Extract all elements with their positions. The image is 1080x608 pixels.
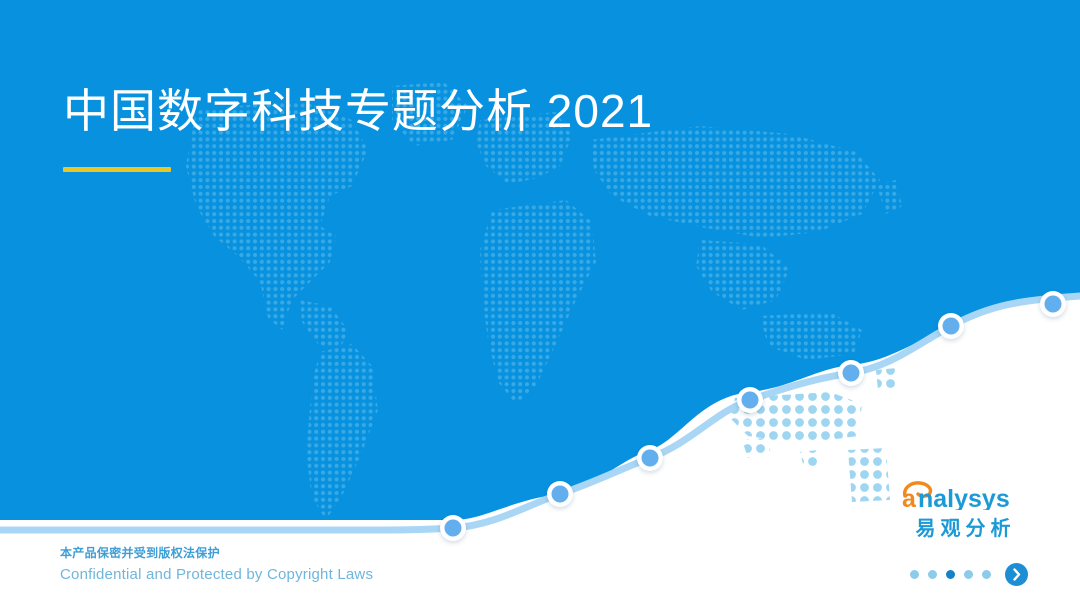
pagination-dot-2[interactable] xyxy=(928,570,937,579)
svg-text:nalysys: nalysys xyxy=(918,485,1010,510)
title-accent-rule xyxy=(63,167,171,172)
chart-marker xyxy=(547,481,573,507)
chart-marker xyxy=(637,445,663,471)
copyright-cn: 本产品保密并受到版权法保护 xyxy=(60,544,373,563)
analysys-wordmark-icon: a nalysys xyxy=(897,480,1029,510)
page-title: 中国数字科技专题分析 2021 xyxy=(63,84,653,139)
svg-text:a: a xyxy=(902,485,917,510)
pagination-dot-5[interactable] xyxy=(982,570,991,579)
chart-marker xyxy=(737,387,763,413)
chart-marker xyxy=(440,515,466,541)
chart-marker xyxy=(938,313,964,339)
slide-pagination xyxy=(910,563,1028,586)
pagination-dot-1[interactable] xyxy=(910,570,919,579)
presentation-slide: 中国数字科技专题分析 2021 本产品保密并受到版权法保护 Confidenti… xyxy=(0,0,1080,608)
copyright-notice: 本产品保密并受到版权法保护 Confidential and Protected… xyxy=(60,544,373,586)
copyright-en: Confidential and Protected by Copyright … xyxy=(60,563,373,586)
chevron-right-icon xyxy=(1005,563,1028,586)
brand-name-cn: 易观分析 xyxy=(897,512,1029,541)
brand-logo: a nalysys 易观分析 xyxy=(897,480,1029,541)
pagination-dot-3[interactable] xyxy=(946,570,955,579)
pagination-dot-4[interactable] xyxy=(964,570,973,579)
next-slide-button[interactable] xyxy=(1005,563,1028,586)
chart-marker xyxy=(838,360,864,386)
chart-marker xyxy=(1040,291,1066,317)
